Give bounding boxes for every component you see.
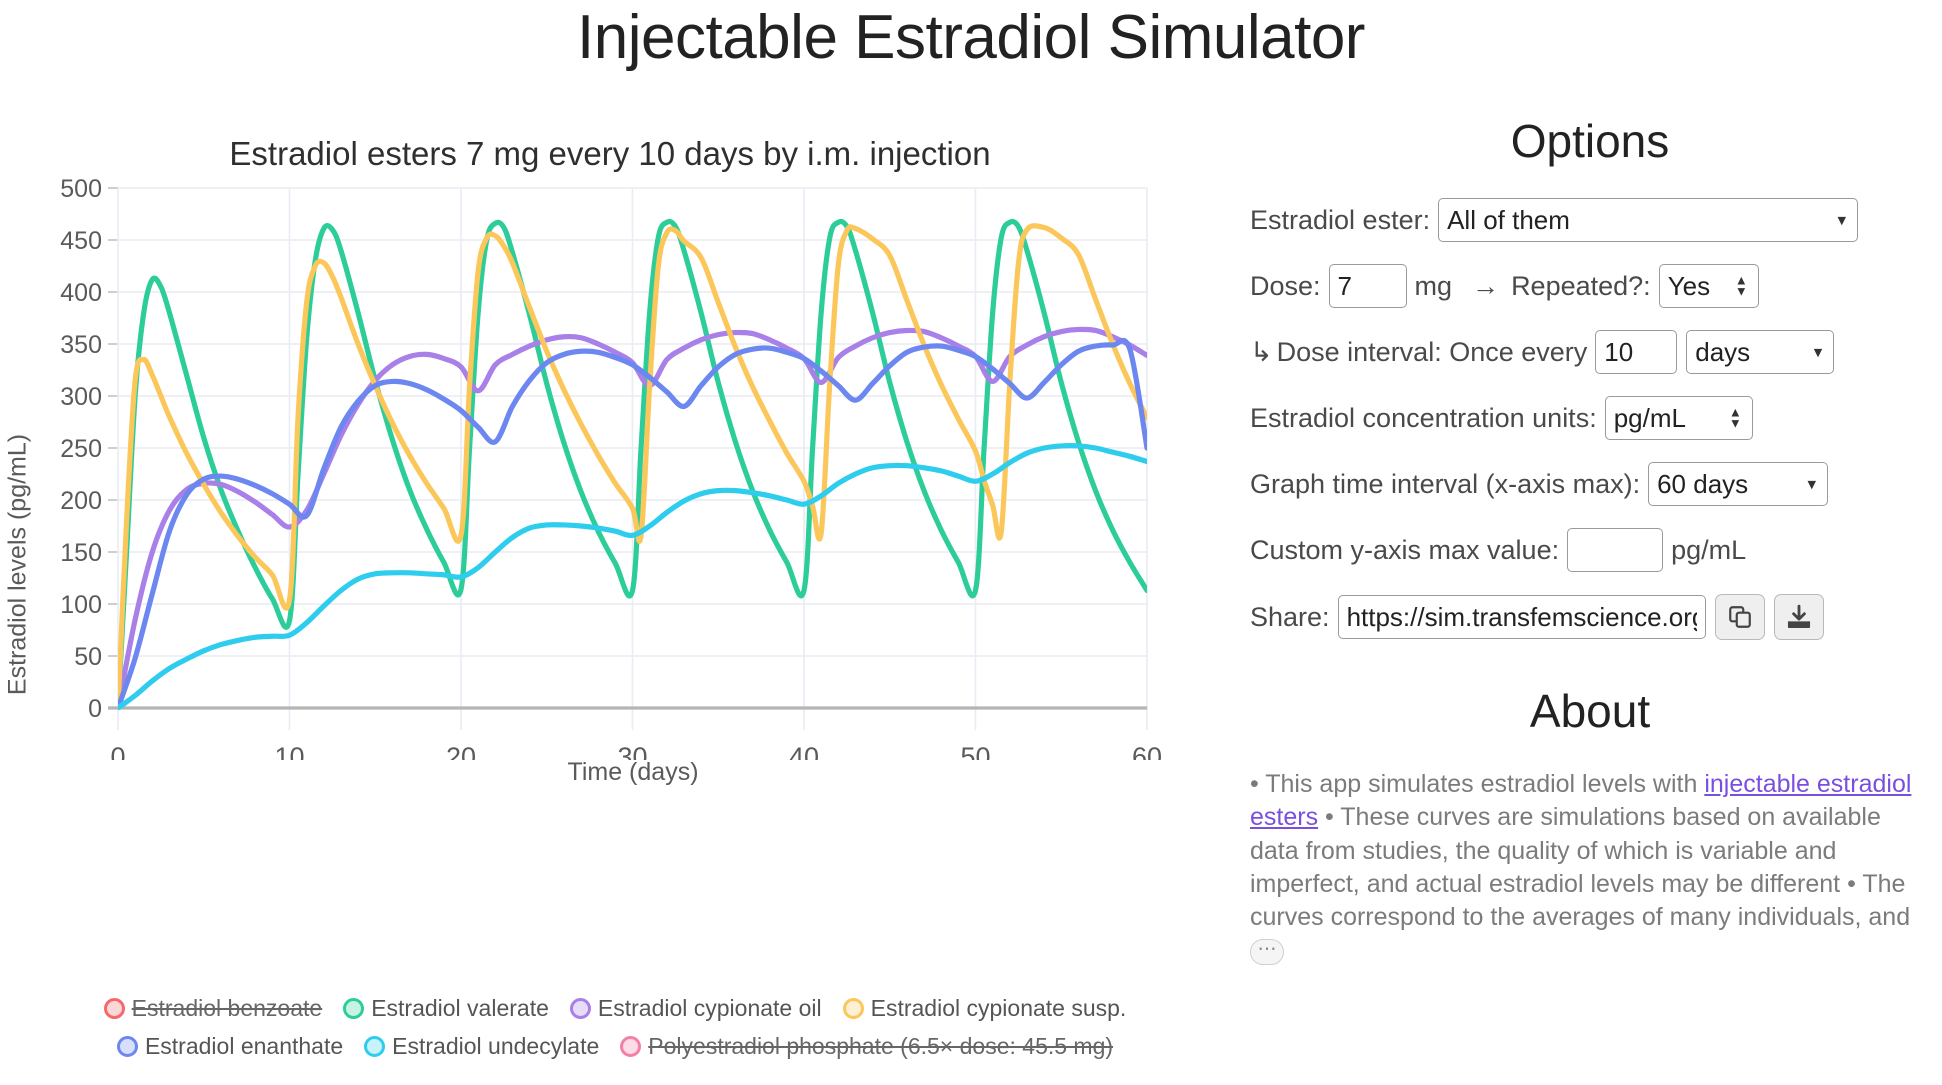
legend-color-marker [570,998,591,1019]
legend-item-label: Estradiol benzoate [132,995,323,1022]
legend-item-label: Estradiol cypionate oil [598,995,822,1022]
app-root: Injectable Estradiol Simulator Estradiol… [0,0,1942,1085]
about-part-2: • These curves are simulations based on … [1250,803,1910,931]
repeated-select[interactable]: Yes [1659,264,1759,308]
y-tick-label: 100 [60,591,102,619]
legend-color-marker [104,998,125,1019]
option-row-units: Estradiol concentration units: pg/mL ▲▼ [1250,396,1930,440]
y-tick-label: 150 [60,539,102,567]
legend-color-marker [843,998,864,1019]
dose-interval-input[interactable] [1595,330,1677,374]
legend-item-label: Estradiol cypionate susp. [871,995,1127,1022]
graph-time-interval-label: Graph time interval (x-axis max): [1250,469,1640,500]
legend-item[interactable]: Estradiol undecylate [364,1033,599,1060]
share-url-input[interactable] [1338,595,1706,639]
y-axis-label: Estradiol levels (pg/mL) [4,355,33,775]
download-icon [1786,604,1812,630]
dose-interval-unit-select[interactable]: days [1686,330,1834,374]
y-tick-label: 450 [60,227,102,255]
legend-item[interactable]: Estradiol valerate [343,995,549,1022]
y-tick-label: 200 [60,487,102,515]
show-more-button[interactable]: ⋯ [1250,939,1284,965]
option-row-ester: Estradiol ester: All of them ▾ [1250,198,1930,242]
estradiol-levels-chart: 0501001502002503003504004505000102030405… [0,120,1200,760]
share-label: Share: [1250,602,1330,633]
arrow-icon: → [1472,271,1499,302]
sub-arrow-icon: ↳ [1250,337,1273,368]
legend-color-marker [364,1036,385,1057]
custom-ymax-label: Custom y-axis max value: [1250,535,1559,566]
option-row-interval: ↳ Dose interval: Once every days ▾ [1250,330,1930,374]
legend-item[interactable]: Estradiol cypionate susp. [843,995,1127,1022]
ester-select-wrap: All of them ▾ [1438,198,1858,242]
legend-color-marker [343,998,364,1019]
legend-item[interactable]: Estradiol benzoate [104,995,323,1022]
dose-input[interactable] [1329,264,1407,308]
interval-unit-wrap: days ▾ [1686,330,1834,374]
legend-color-marker [620,1036,641,1057]
legend-item-label: Estradiol undecylate [392,1033,599,1060]
option-row-ymax: Custom y-axis max value: pg/mL [1250,528,1930,572]
chart-panel: Estradiol esters 7 mg every 10 days by i… [0,120,1200,1080]
dose-unit-label: mg [1415,271,1453,302]
y-tick-label: 250 [60,435,102,463]
y-tick-label: 350 [60,331,102,359]
estradiol-ester-select[interactable]: All of them [1438,198,1858,242]
y-tick-label: 50 [74,643,102,671]
legend-item-label: Estradiol valerate [371,995,549,1022]
ester-label: Estradiol ester: [1250,205,1430,236]
download-button[interactable] [1774,594,1824,640]
x-axis-label: Time (days) [118,758,1148,787]
legend-item[interactable]: Estradiol cypionate oil [570,995,822,1022]
copy-icon [1727,604,1753,630]
legend-color-marker [117,1036,138,1057]
ymax-unit-label: pg/mL [1671,535,1746,566]
about-section: About • This app simulates estradiol lev… [1250,688,1930,968]
legend-row: Estradiol benzoateEstradiol valerateEstr… [60,995,1170,1022]
concentration-units-select[interactable]: pg/mL [1605,396,1753,440]
y-tick-label: 0 [88,695,102,723]
y-tick-label: 400 [60,279,102,307]
units-select-wrap: pg/mL ▲▼ [1605,396,1753,440]
option-row-timeinterval: Graph time interval (x-axis max): 60 day… [1250,462,1930,506]
about-part-1: • This app simulates estradiol levels wi… [1250,770,1704,798]
custom-ymax-input[interactable] [1567,528,1663,572]
legend-row: Estradiol enanthateEstradiol undecylateP… [60,1033,1170,1060]
interval-label: Dose interval: Once every [1277,337,1588,368]
about-text: • This app simulates estradiol levels wi… [1250,768,1930,968]
legend-item[interactable]: Estradiol enanthate [117,1033,343,1060]
y-tick-label: 500 [60,175,102,203]
options-heading: Options [1250,118,1930,164]
dose-label: Dose: [1250,271,1321,302]
concentration-units-label: Estradiol concentration units: [1250,403,1597,434]
options-panel: Options Estradiol ester: All of them ▾ D… [1250,118,1930,993]
copy-link-button[interactable] [1715,594,1765,640]
option-row-share: Share: [1250,594,1930,640]
repeated-select-wrap: Yes ▲▼ [1659,264,1759,308]
option-row-dose: Dose: mg → Repeated?: Yes ▲▼ [1250,264,1930,308]
legend-item[interactable]: Polyestradiol phosphate (6.5× dose: 45.5… [620,1033,1113,1060]
y-tick-label: 300 [60,383,102,411]
repeated-label: Repeated?: [1511,271,1651,302]
legend-item-label: Polyestradiol phosphate (6.5× dose: 45.5… [648,1033,1113,1060]
legend-item-label: Estradiol enanthate [145,1033,343,1060]
timeinterval-select-wrap: 60 days ▾ [1648,462,1828,506]
chart-legend: Estradiol benzoateEstradiol valerateEstr… [60,995,1170,1071]
graph-time-interval-select[interactable]: 60 days [1648,462,1828,506]
page-title: Injectable Estradiol Simulator [0,2,1942,73]
about-heading: About [1250,688,1930,734]
